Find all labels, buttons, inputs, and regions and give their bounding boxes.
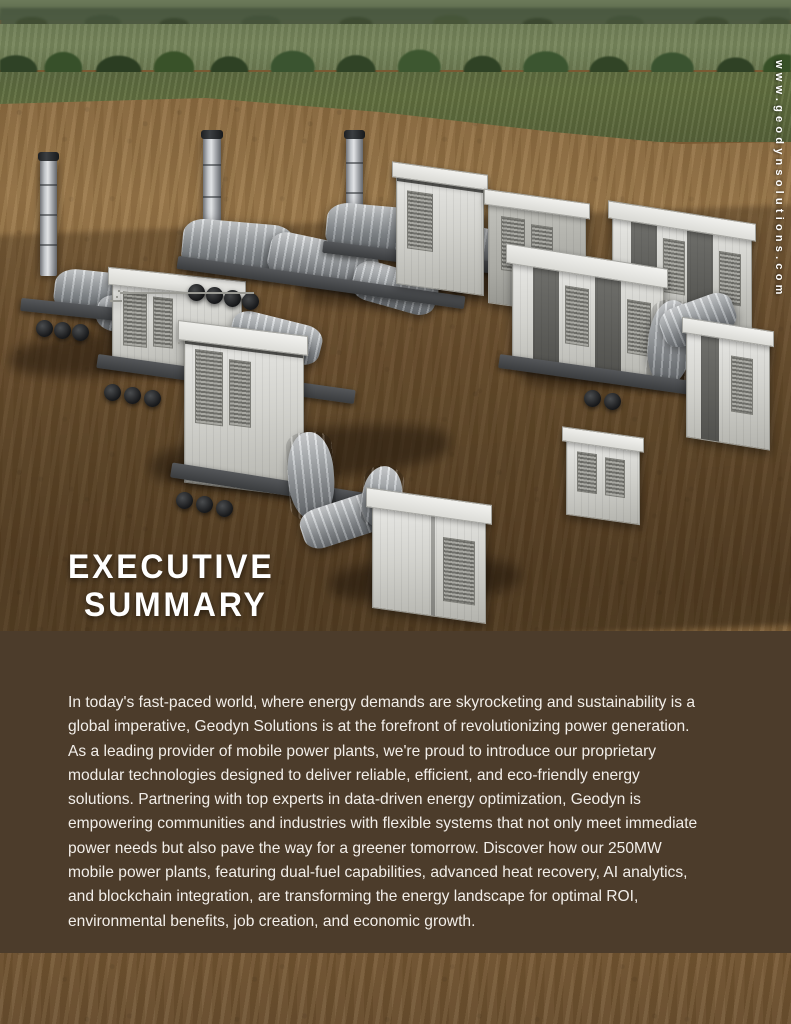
enclosure-vent xyxy=(565,285,589,347)
summary-panel: In today's fast-paced world, where energ… xyxy=(0,631,791,953)
brochure-page: www.geodynsolutions.com EXECUTIVE SUMMAR… xyxy=(0,0,791,1024)
enclosure-vent xyxy=(195,349,223,426)
container-module xyxy=(686,327,770,450)
stack-cap xyxy=(201,130,223,139)
cabin-window xyxy=(577,451,597,494)
website-url-vertical[interactable]: www.geodynsolutions.com xyxy=(773,60,785,299)
mobile-power-plant-equipment xyxy=(0,0,791,631)
stack-cap xyxy=(344,130,365,139)
stack-cap xyxy=(38,152,59,161)
container-vent xyxy=(731,355,753,414)
cabin-window xyxy=(605,457,625,498)
container-vent xyxy=(407,190,433,252)
enclosure-vent xyxy=(123,291,147,348)
container-vent xyxy=(443,537,475,605)
enclosure-vent xyxy=(153,296,173,348)
enclosure-vent xyxy=(229,359,251,428)
exhaust-stack xyxy=(40,158,57,276)
page-title-line-1: EXECUTIVE xyxy=(68,548,275,586)
page-title-line-2: SUMMARY xyxy=(84,586,275,624)
summary-body-text: In today's fast-paced world, where energ… xyxy=(68,691,702,934)
container-module xyxy=(396,170,484,296)
page-title: EXECUTIVE SUMMARY xyxy=(68,548,288,624)
